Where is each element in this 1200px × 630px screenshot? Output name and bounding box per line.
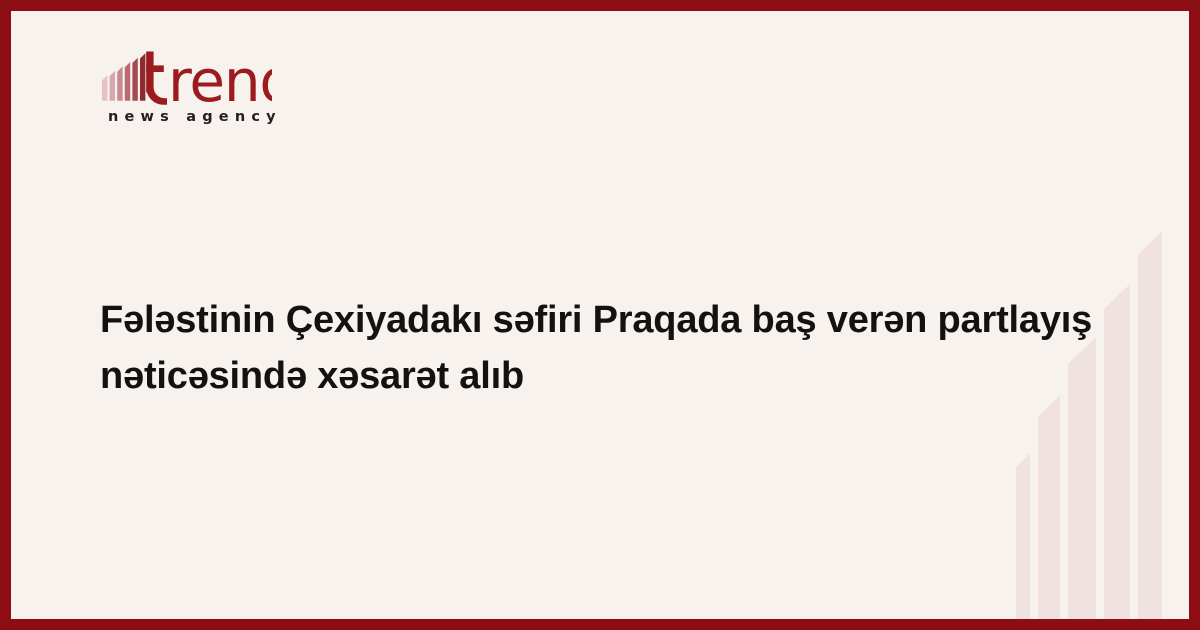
brand-tagline: news agency — [108, 109, 282, 125]
card-canvas: rend news agency Fələstinin Çexiyadakı s… — [11, 11, 1189, 619]
trend-wordmark-icon: rend — [100, 47, 272, 109]
letter-t-icon — [146, 52, 167, 105]
headline-text: Fələstinin Çexiyadakı səfiri Praqada baş… — [100, 292, 1100, 404]
brand-logo[interactable]: rend news agency — [100, 43, 300, 143]
share-card: rend news agency Fələstinin Çexiyadakı s… — [0, 0, 1200, 630]
ascending-bars-mark-icon — [102, 53, 145, 101]
svg-text:rend: rend — [168, 47, 272, 109]
